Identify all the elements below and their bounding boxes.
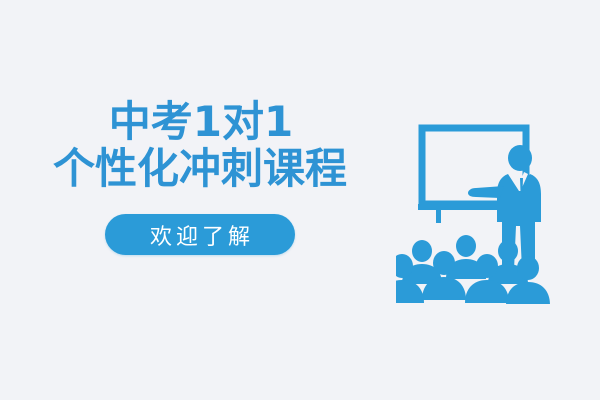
classroom-teaching-illustration xyxy=(396,118,572,304)
cta-container: 欢迎了解 xyxy=(0,214,400,255)
welcome-learn-more-button[interactable]: 欢迎了解 xyxy=(105,214,295,255)
headline-line-2: 个性化冲刺课程 xyxy=(0,147,400,191)
headline-line-1: 中考1对1 xyxy=(2,100,400,144)
promo-banner: 中考1对1 个性化冲刺课程 欢迎了解 xyxy=(0,0,600,400)
text-block: 中考1对1 个性化冲刺课程 欢迎了解 xyxy=(0,100,400,255)
